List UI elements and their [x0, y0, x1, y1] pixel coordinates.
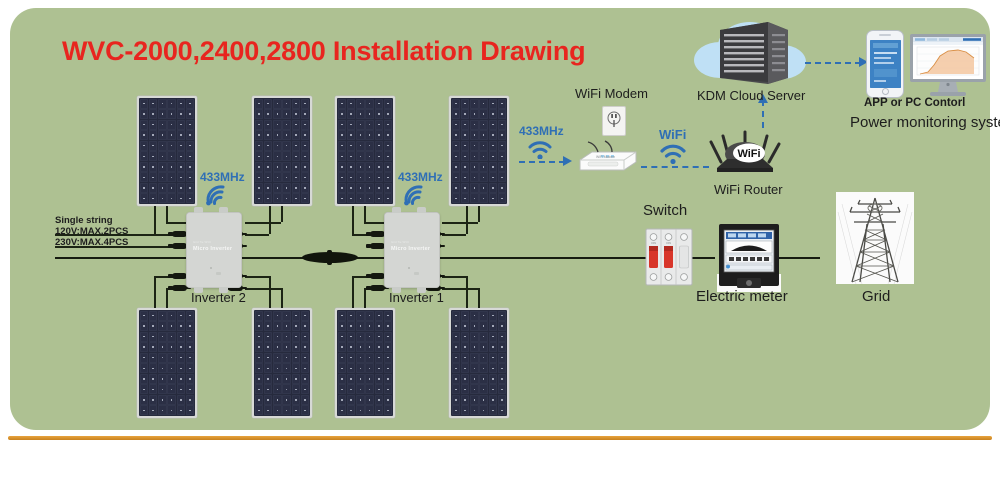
panel-cell	[177, 353, 186, 363]
data-link-app	[805, 62, 861, 64]
panel-cell	[384, 109, 393, 119]
panel-cell	[347, 384, 356, 394]
panel-cell	[158, 120, 167, 130]
panel-cell	[273, 151, 282, 161]
panel-cell	[365, 363, 374, 373]
panel-cell	[149, 353, 158, 363]
panel-cell	[489, 342, 498, 352]
panel-cell	[479, 193, 488, 203]
inverter-brand: Micro Inverter	[391, 246, 430, 252]
panel-cell	[149, 162, 158, 172]
dc-wire	[478, 206, 480, 222]
panel-cell	[461, 311, 470, 321]
panel-cell	[461, 141, 470, 151]
panel-cell	[149, 99, 158, 109]
panel-cell	[282, 321, 291, 331]
wifi-router-label: WiFi Router	[714, 182, 783, 197]
panel-cell	[292, 183, 301, 193]
panel-cell	[158, 342, 167, 352]
panel-cell	[301, 162, 310, 172]
panel-cell	[255, 374, 264, 384]
panel-cell	[347, 374, 356, 384]
panel-cell	[356, 109, 365, 119]
panel-cell	[461, 363, 470, 373]
panel-cell	[186, 353, 195, 363]
panel-cell	[264, 395, 273, 405]
panel-cell	[264, 342, 273, 352]
panel-cell	[461, 183, 470, 193]
panel-cell	[347, 321, 356, 331]
panel-cell	[489, 384, 498, 394]
panel-cell	[338, 384, 347, 394]
panel-cell	[338, 353, 347, 363]
panel-cell	[273, 405, 282, 415]
panel-cell	[186, 405, 195, 415]
panel-cell	[167, 405, 176, 415]
panel-cell	[461, 120, 470, 130]
panel-cell	[149, 120, 158, 130]
panel-cell	[292, 395, 301, 405]
mc4-connector	[172, 243, 187, 249]
panel-cell	[273, 311, 282, 321]
panel-cell	[452, 363, 461, 373]
panel-cell	[498, 130, 507, 140]
panel-cell	[347, 311, 356, 321]
smartphone-app[interactable]	[866, 30, 904, 98]
panel-cell	[489, 99, 498, 109]
panel-cell	[255, 109, 264, 119]
mount-tab	[194, 207, 203, 213]
panel-cell	[158, 109, 167, 119]
panel-cell	[489, 183, 498, 193]
panel-cell	[255, 120, 264, 130]
panel-cell	[479, 363, 488, 373]
string-note-line2: 120V:MAX.2PCS	[55, 226, 128, 238]
panel-cell	[167, 151, 176, 161]
panel-cell	[140, 332, 149, 342]
panel-cell	[375, 342, 384, 352]
desktop-monitor[interactable]	[908, 32, 988, 103]
panel-cell	[264, 120, 273, 130]
panel-cell	[338, 342, 347, 352]
dc-wire	[442, 234, 466, 236]
ac-bus-line	[695, 257, 715, 259]
panel-cell	[140, 374, 149, 384]
panel-cell	[255, 172, 264, 182]
panel-cell	[338, 141, 347, 151]
panel-cell	[149, 342, 158, 352]
panel-cell	[470, 109, 479, 119]
panel-cell	[301, 353, 310, 363]
panel-cell	[489, 353, 498, 363]
panel-cell	[177, 321, 186, 331]
panel-cell	[347, 363, 356, 373]
panel-cell	[273, 395, 282, 405]
panel-cell	[384, 183, 393, 193]
panel-cell	[384, 130, 393, 140]
panel-cell	[177, 363, 186, 373]
panel-cell	[384, 321, 393, 331]
panel-cell	[186, 109, 195, 119]
panel-cell	[479, 172, 488, 182]
panel-cell	[498, 109, 507, 119]
mc4-connector	[370, 273, 385, 279]
panel-cell	[470, 395, 479, 405]
panel-cell	[301, 130, 310, 140]
panel-cell	[498, 141, 507, 151]
dc-wire	[281, 206, 283, 222]
panel-cell	[255, 395, 264, 405]
panel-cell	[264, 374, 273, 384]
panel-cell	[498, 193, 507, 203]
mc4-connector	[172, 273, 187, 279]
panel-cell	[301, 141, 310, 151]
panel-cell	[384, 395, 393, 405]
panel-cell	[470, 332, 479, 342]
panel-cell	[452, 332, 461, 342]
panel-cell	[158, 172, 167, 182]
micro-inverter-1[interactable]: Grid Tie WVC Micro Inverter	[384, 212, 440, 288]
panel-cell	[264, 151, 273, 161]
panel-cell	[292, 151, 301, 161]
panel-cell	[167, 162, 176, 172]
svg-text:ON: ON	[666, 241, 671, 245]
panel-cell	[158, 332, 167, 342]
panel-cell	[489, 151, 498, 161]
panel-cell	[452, 109, 461, 119]
panel-cell	[479, 151, 488, 161]
wifi-router-device[interactable]: WiFi	[705, 128, 785, 183]
panel-cell	[356, 321, 365, 331]
panel-cell	[479, 395, 488, 405]
panel-cell	[489, 311, 498, 321]
panel-cell	[479, 321, 488, 331]
panel-cell	[140, 151, 149, 161]
panel-cell	[489, 363, 498, 373]
panel-cell	[273, 193, 282, 203]
panel-cell	[177, 332, 186, 342]
panel-cell	[470, 120, 479, 130]
inverter-plate	[216, 272, 221, 275]
panel-cell	[452, 130, 461, 140]
wifi-modem-device[interactable]: WiFi Modem	[578, 140, 640, 179]
panel-cell	[186, 162, 195, 172]
panel-cell	[498, 353, 507, 363]
panel-cell	[149, 405, 158, 415]
data-link-modem	[519, 161, 565, 163]
panel-cell	[375, 120, 384, 130]
panel-cell	[384, 172, 393, 182]
panel-cell	[292, 162, 301, 172]
panel-cell	[384, 332, 393, 342]
panel-cell	[292, 321, 301, 331]
panel-cell	[489, 193, 498, 203]
panel-cell	[375, 99, 384, 109]
wifi-modem-label: WiFi Modem	[575, 86, 648, 101]
panel-cell	[292, 141, 301, 151]
panel-cell	[158, 99, 167, 109]
solar-panel-top-1	[137, 96, 197, 206]
panel-cell	[149, 172, 158, 182]
panel-cell	[489, 395, 498, 405]
panel-cell	[273, 374, 282, 384]
panel-cell	[365, 130, 374, 140]
panel-cell	[338, 151, 347, 161]
panel-cell	[452, 120, 461, 130]
panel-cell	[177, 151, 186, 161]
wireless-433-icon-1	[401, 184, 427, 211]
panel-cell	[282, 183, 291, 193]
panel-cell	[356, 374, 365, 384]
panel-cell	[479, 353, 488, 363]
panel-cell	[365, 405, 374, 415]
panel-cell	[384, 353, 393, 363]
panel-cell	[347, 342, 356, 352]
panel-cell	[177, 120, 186, 130]
panel-cell	[498, 321, 507, 331]
panel-cell	[365, 141, 374, 151]
panel-cell	[479, 342, 488, 352]
solar-panel-bottom-3	[335, 308, 395, 418]
panel-cell	[479, 183, 488, 193]
panel-cell	[167, 120, 176, 130]
panel-cell	[282, 395, 291, 405]
panel-cell	[186, 395, 195, 405]
panel-cell	[140, 120, 149, 130]
panel-cell	[356, 353, 365, 363]
panel-cell	[452, 193, 461, 203]
panel-cell	[347, 172, 356, 182]
panel-cell	[292, 353, 301, 363]
panel-cell	[292, 99, 301, 109]
panel-cell	[158, 363, 167, 373]
panel-cell	[186, 151, 195, 161]
panel-cell	[167, 130, 176, 140]
wall-outlet	[602, 106, 626, 136]
panel-cell	[356, 151, 365, 161]
panel-cell	[452, 384, 461, 394]
panel-cell	[470, 183, 479, 193]
panel-cell	[140, 405, 149, 415]
panel-cell	[301, 109, 310, 119]
panel-cell	[356, 99, 365, 109]
panel-cell	[356, 342, 365, 352]
circuit-breaker-device[interactable]: ON ON	[645, 228, 693, 291]
panel-cell	[384, 363, 393, 373]
panel-cell	[282, 130, 291, 140]
panel-cell	[140, 321, 149, 331]
panel-cell	[177, 109, 186, 119]
panel-cell	[384, 374, 393, 384]
status-led	[408, 267, 410, 269]
panel-cell	[338, 172, 347, 182]
dc-wire	[55, 234, 165, 236]
dc-wire	[269, 276, 271, 308]
inverter-sub-brand: Grid Tie WVC	[391, 240, 409, 244]
panel-cell	[186, 99, 195, 109]
panel-cell	[282, 141, 291, 151]
panel-cell	[452, 141, 461, 151]
panel-cell	[365, 151, 374, 161]
panel-cell	[140, 311, 149, 321]
panel-cell	[301, 363, 310, 373]
panel-cell	[479, 332, 488, 342]
panel-cell	[301, 395, 310, 405]
panel-cell	[356, 395, 365, 405]
panel-cell	[282, 363, 291, 373]
dc-wire	[364, 222, 384, 224]
panel-cell	[186, 374, 195, 384]
dc-wire	[269, 206, 271, 234]
panel-cell	[282, 374, 291, 384]
panel-cell	[264, 311, 273, 321]
panel-cell	[338, 109, 347, 119]
panel-cell	[384, 342, 393, 352]
panel-cell	[489, 109, 498, 119]
panel-cell	[273, 363, 282, 373]
panel-cell	[273, 183, 282, 193]
panel-cell	[158, 162, 167, 172]
panel-cell	[384, 99, 393, 109]
panel-cell	[498, 363, 507, 373]
panel-cell	[186, 172, 195, 182]
panel-cell	[356, 332, 365, 342]
solar-panel-top-3	[335, 96, 395, 206]
panel-cell	[470, 141, 479, 151]
panel-cell	[461, 321, 470, 331]
panel-cell	[282, 384, 291, 394]
panel-cell	[255, 321, 264, 331]
panel-cell	[186, 342, 195, 352]
panel-cell	[140, 342, 149, 352]
power-monitoring-system-label: Power monitoring system	[850, 114, 1000, 131]
panel-cell	[292, 405, 301, 415]
phone-home-button	[882, 88, 889, 95]
mc4-connector	[370, 285, 385, 291]
panel-cell	[470, 193, 479, 203]
panel-cell	[140, 99, 149, 109]
panel-cell	[140, 183, 149, 193]
panel-cell	[158, 130, 167, 140]
mc4-connector	[370, 231, 385, 237]
panel-cell	[498, 342, 507, 352]
panel-cell	[498, 395, 507, 405]
panel-cell	[489, 120, 498, 130]
micro-inverter-2[interactable]: Grid Tie WVC Micro Inverter	[186, 212, 242, 288]
kdm-cloud-server-label: KDM Cloud Server	[697, 88, 805, 103]
panel-cell	[384, 384, 393, 394]
panel-cells	[451, 98, 507, 204]
panel-cell	[452, 172, 461, 182]
data-link-cloud-vertical	[762, 100, 764, 128]
panel-cell	[301, 151, 310, 161]
panel-cell	[167, 363, 176, 373]
panel-cell	[273, 99, 282, 109]
data-link-router	[641, 166, 709, 168]
panel-cell	[292, 342, 301, 352]
panel-cell	[375, 321, 384, 331]
panel-cell	[292, 384, 301, 394]
panel-cell	[365, 384, 374, 394]
panel-cell	[167, 395, 176, 405]
panel-cell	[461, 109, 470, 119]
panel-cell	[452, 405, 461, 415]
panel-cell	[375, 353, 384, 363]
panel-cell	[489, 130, 498, 140]
svg-text:WiFi: WiFi	[737, 148, 760, 160]
phone-speaker	[879, 34, 891, 37]
string-note-line1: Single string	[55, 215, 113, 227]
panel-cell	[461, 395, 470, 405]
panel-cell	[149, 311, 158, 321]
panel-cell	[461, 384, 470, 394]
dc-wire	[466, 276, 468, 308]
panel-cell	[255, 151, 264, 161]
page-title: WVC-2000,2400,2800 Installation Drawing	[62, 36, 585, 67]
dc-wire	[466, 206, 468, 234]
wifi-link-label: WiFi	[659, 127, 686, 142]
panel-cell	[282, 120, 291, 130]
panel-cell	[347, 141, 356, 151]
panel-cell	[186, 363, 195, 373]
panel-cell	[264, 183, 273, 193]
panel-cell	[301, 99, 310, 109]
panel-cell	[264, 162, 273, 172]
panel-cell	[255, 193, 264, 203]
panel-cell	[470, 162, 479, 172]
panel-cell	[177, 342, 186, 352]
panel-cell	[479, 374, 488, 384]
panel-cell	[282, 405, 291, 415]
panel-cell	[158, 395, 167, 405]
panel-cell	[461, 332, 470, 342]
panel-cell	[149, 395, 158, 405]
panel-cell	[264, 172, 273, 182]
panel-cell	[452, 353, 461, 363]
panel-cell	[365, 321, 374, 331]
panel-cell	[338, 99, 347, 109]
panel-cell	[384, 120, 393, 130]
panel-cell	[356, 162, 365, 172]
panel-cell	[347, 332, 356, 342]
panel-cell	[452, 311, 461, 321]
panel-cell	[292, 311, 301, 321]
panel-cell	[347, 183, 356, 193]
panel-cell	[149, 384, 158, 394]
svg-text:WiFi Modem: WiFi Modem	[596, 155, 615, 159]
panel-cell	[461, 353, 470, 363]
panel-cell	[167, 374, 176, 384]
panel-cell	[338, 321, 347, 331]
solar-panel-top-2	[252, 96, 312, 206]
panel-cell	[461, 342, 470, 352]
panel-cell	[489, 332, 498, 342]
panel-cell	[375, 172, 384, 182]
panel-cell	[292, 172, 301, 182]
panel-cell	[149, 130, 158, 140]
panel-cell	[356, 363, 365, 373]
panel-cell	[338, 183, 347, 193]
panel-cell	[489, 321, 498, 331]
panel-cell	[338, 162, 347, 172]
panel-cell	[452, 162, 461, 172]
panel-cell	[177, 141, 186, 151]
panel-cell	[264, 130, 273, 140]
panel-cell	[470, 374, 479, 384]
panel-cell	[375, 151, 384, 161]
panel-cell	[375, 130, 384, 140]
panel-cell	[479, 141, 488, 151]
